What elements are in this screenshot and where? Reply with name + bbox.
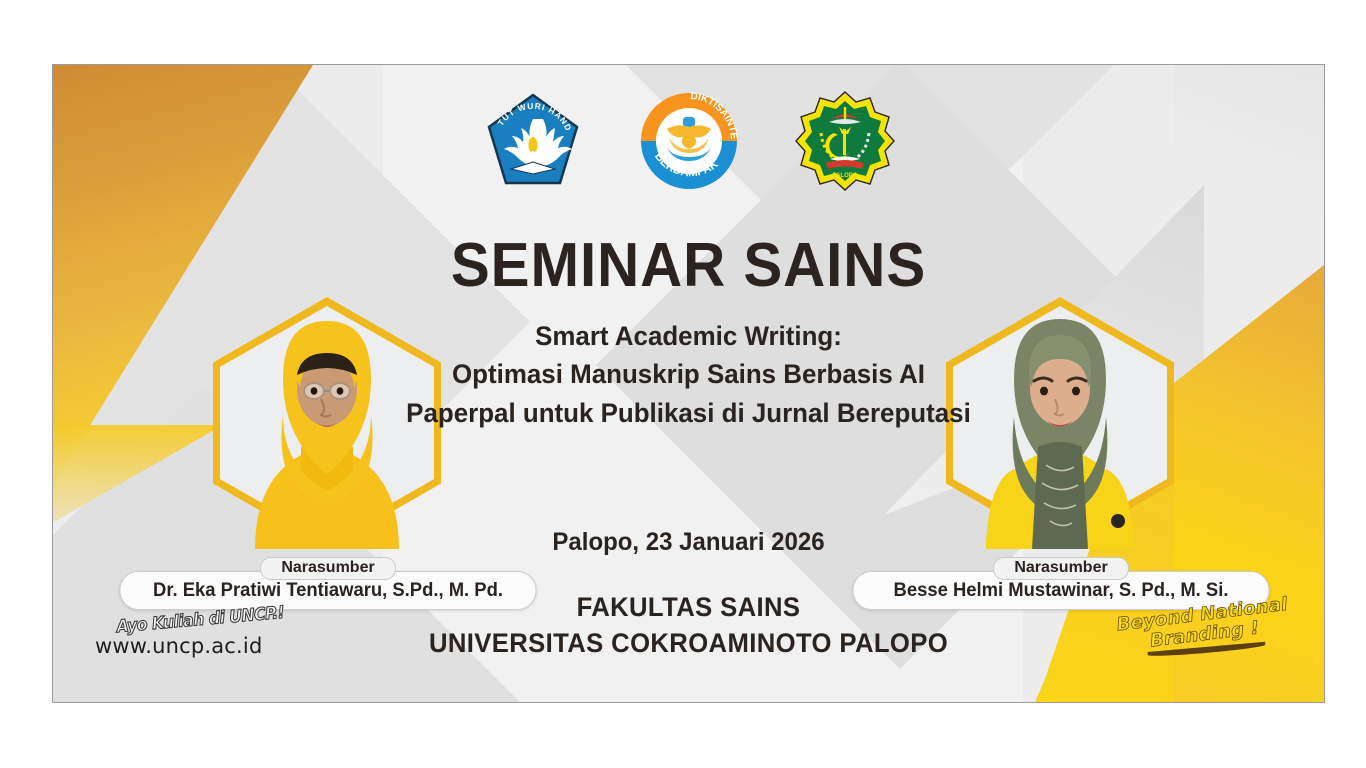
logo-row: TUT WURI HANDAYANI DIKT — [53, 89, 1324, 198]
svg-text:PALOPO: PALOPO — [832, 173, 857, 179]
subtitle-line-3: Paperpal untuk Publikasi di Jurnal Berep… — [78, 394, 1298, 432]
title-block: SEMINAR SAINS Smart Academic Writing: Op… — [53, 235, 1324, 432]
page-title: SEMINAR SAINS — [91, 235, 1286, 297]
seminar-banner: TUT WURI HANDAYANI DIKT — [52, 64, 1325, 703]
diktisaintek-berdampak-logo: DIKTISAINTEK BERDAMPAK — [637, 89, 741, 198]
tut-wuri-handayani-logo: TUT WURI HANDAYANI — [481, 89, 585, 198]
speaker-nameplate-left: Narasumber Dr. Eka Pratiwi Tentiawaru, S… — [113, 557, 543, 610]
universitas-cokroaminoto-palopo-logo: PALOPO — [793, 89, 897, 198]
speaker-role-right: Narasumber — [993, 557, 1128, 580]
uncp-branding: Ayo Kuliah di UNCP.! www.uncp.ac.id — [95, 610, 292, 658]
speaker-role-left: Narasumber — [260, 557, 395, 580]
poster-canvas: TUT WURI HANDAYANI DIKT — [0, 0, 1366, 768]
website-url: www.uncp.ac.id — [95, 634, 292, 658]
subtitle-line-1: Smart Academic Writing: — [78, 317, 1298, 355]
event-date: Palopo, 23 Januari 2026 — [78, 528, 1298, 557]
subtitle-line-2: Optimasi Manuskrip Sains Berbasis AI — [78, 355, 1298, 393]
